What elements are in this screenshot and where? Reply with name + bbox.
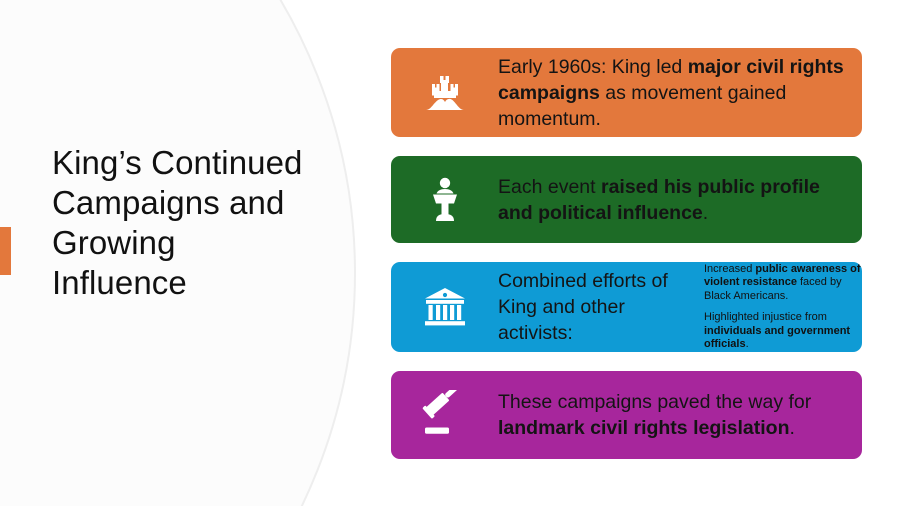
content-bar-4[interactable]: These campaigns paved the way for landma… bbox=[391, 371, 862, 459]
content-bar-list: Early 1960s: King led major civil rights… bbox=[391, 48, 862, 459]
bank-building-icon bbox=[391, 284, 498, 330]
content-bar-2-text: Each event raised his public profile and… bbox=[498, 174, 850, 226]
content-bar-3-text: Combined efforts of King and other activ… bbox=[498, 268, 694, 346]
content-bar-4-body: These campaigns paved the way for landma… bbox=[498, 389, 862, 441]
content-bar-1-body: Early 1960s: King led major civil rights… bbox=[498, 54, 862, 132]
page-title: King’s Continued Campaigns and Growing I… bbox=[52, 143, 307, 303]
podium-speaker-icon bbox=[391, 174, 498, 226]
sub-item: Increased public awareness of violent re… bbox=[704, 263, 862, 304]
accent-bar bbox=[0, 227, 11, 275]
content-bar-3-body: Combined efforts of King and other activ… bbox=[498, 263, 862, 352]
gavel-icon bbox=[391, 390, 498, 440]
content-bar-2-body: Each event raised his public profile and… bbox=[498, 174, 862, 226]
slide-canvas: King’s Continued Campaigns and Growing I… bbox=[0, 0, 900, 506]
castle-icon bbox=[391, 69, 498, 117]
content-bar-2[interactable]: Each event raised his public profile and… bbox=[391, 156, 862, 243]
content-bar-3[interactable]: Combined efforts of King and other activ… bbox=[391, 262, 862, 352]
content-bar-1[interactable]: Early 1960s: King led major civil rights… bbox=[391, 48, 862, 137]
content-bar-3-subitems: Increased public awareness of violent re… bbox=[704, 263, 862, 352]
content-bar-1-text: Early 1960s: King led major civil rights… bbox=[498, 54, 850, 132]
sub-item: Highlighted injustice from individuals a… bbox=[704, 311, 862, 352]
content-bar-4-text: These campaigns paved the way for landma… bbox=[498, 389, 850, 441]
